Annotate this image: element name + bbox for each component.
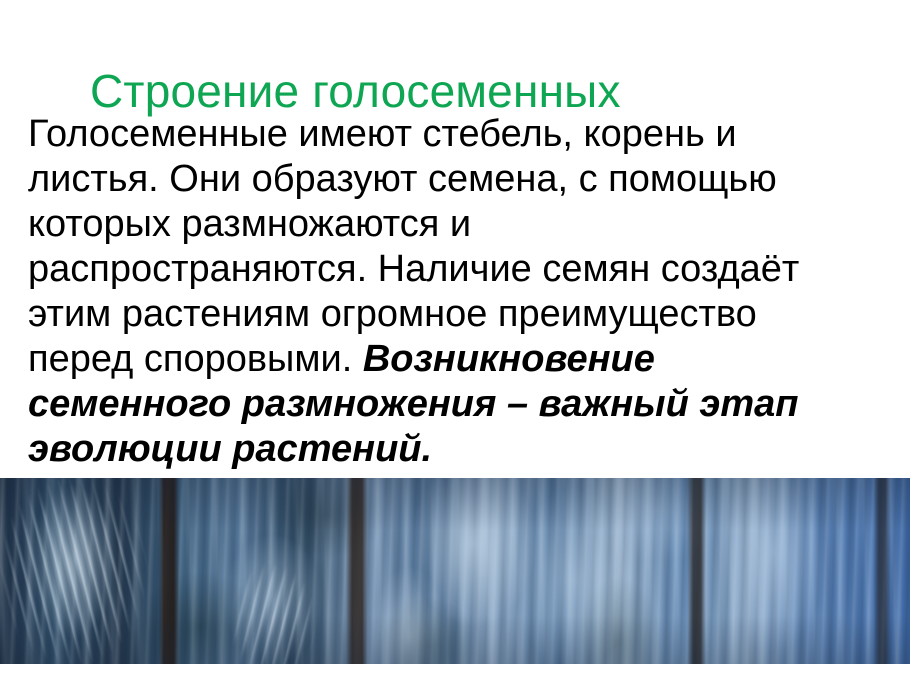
body-line-3: которых размножаются и [28,202,890,247]
emphasis-line-1: Возникновение [363,338,655,380]
emphasis-line-3: эволюции растений. [28,427,890,472]
body-line-5: этим растениям огромное преимущество [28,292,890,337]
pine-needles-photo [0,478,910,664]
body-paragraph: Голосеменные имеют стебель, корень и лис… [28,112,890,472]
photo-vignette [0,478,910,664]
body-line-4: распространяются. Наличие семян создаёт [28,247,890,292]
body-line-6-plain: перед споровыми. [28,338,363,380]
body-line-6: перед споровыми. Возникновение [28,337,890,382]
body-line-2: листья. Они образуют семена, с помощью [28,157,890,202]
emphasis-line-2: семенного размножения – важный этап [28,382,890,427]
slide: Строение голосеменных Голосеменные имеют… [0,0,910,683]
body-line-1: Голосеменные имеют стебель, корень и [28,112,890,157]
